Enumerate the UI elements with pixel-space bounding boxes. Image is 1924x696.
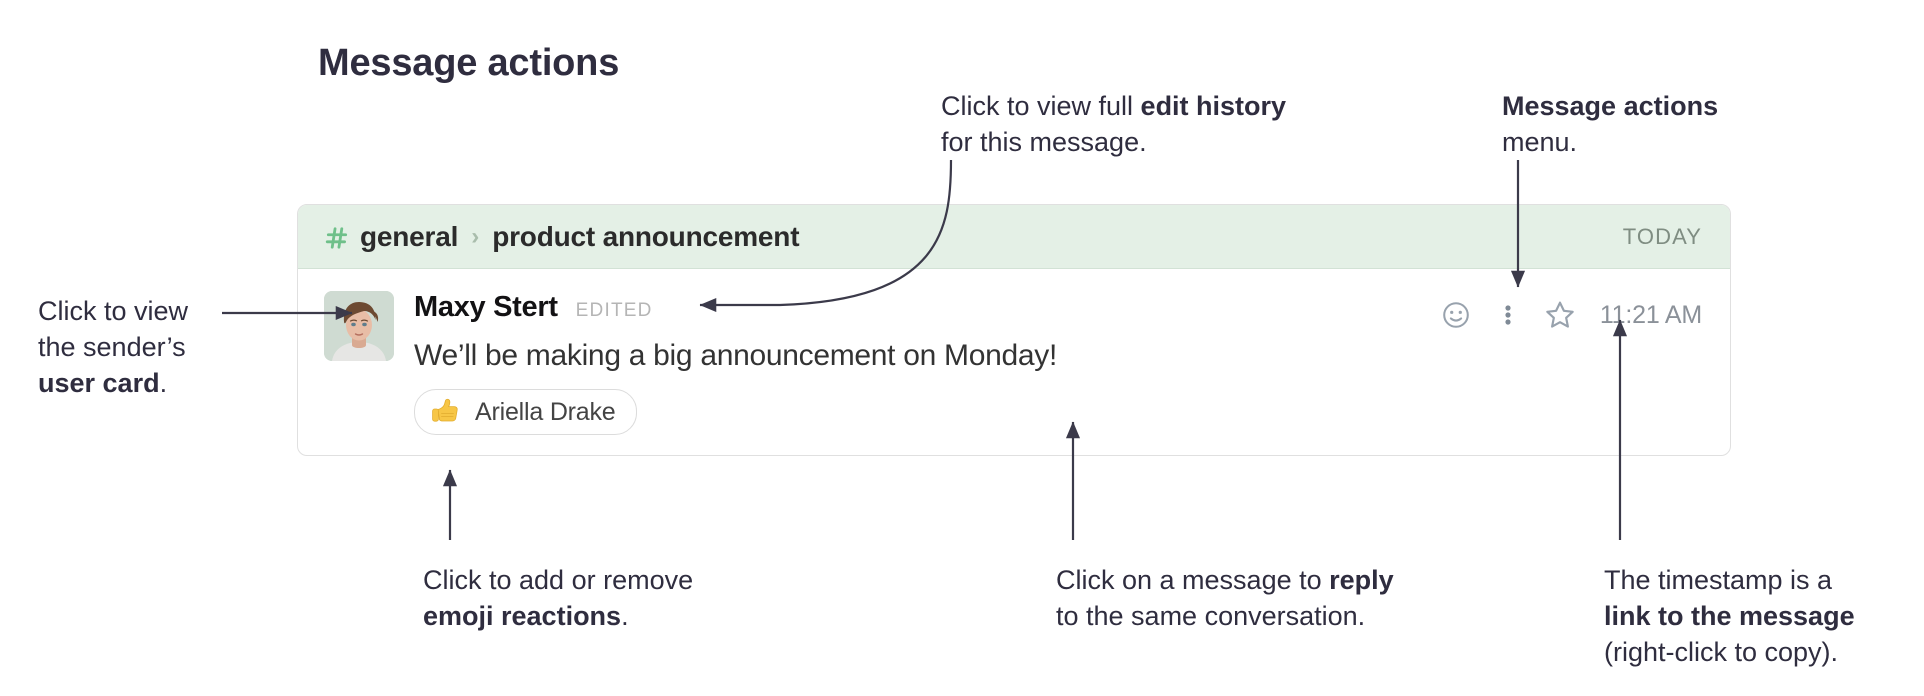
annotation-line: Click to view [38,293,188,329]
annotation-line: Click to view full edit history [941,88,1286,124]
annotation-user-card: Click to viewthe sender’suser card. [38,293,188,401]
annotation-emphasis: Message actions [1502,91,1718,121]
message-body[interactable]: We’ll be making a big announcement on Mo… [414,339,1702,373]
annotation-timestamp: The timestamp is alink to the message(ri… [1604,562,1855,670]
annotation-text: Click to add or remove [423,565,693,595]
annotation-text: Click on a message to [1056,565,1329,595]
star-icon[interactable] [1534,295,1586,335]
vertical-dots-icon[interactable] [1482,295,1534,335]
annotation-text: The timestamp is a [1604,565,1832,595]
reaction-label: Ariella Drake [475,398,616,427]
sender-name[interactable]: Maxy Stert [414,291,558,324]
page-title: Message actions [318,42,619,85]
annotation-line: (right-click to copy). [1604,634,1855,670]
annotation-emphasis: edit history [1141,91,1287,121]
annotation-actions-menu: Message actionsmenu. [1502,88,1718,160]
reaction-row: Ariella Drake [414,389,1702,435]
annotation-line: Message actions [1502,88,1718,124]
reaction-pill[interactable]: Ariella Drake [414,389,637,435]
day-label: TODAY [1623,224,1702,250]
annotation-line: Click on a message to reply [1056,562,1394,598]
annotation-emoji-reactions: Click to add or removeemoji reactions. [423,562,693,634]
edited-flag[interactable]: EDITED [576,300,653,322]
message-timestamp[interactable]: 11:21 AM [1600,301,1702,330]
annotation-emphasis: link to the message [1604,601,1855,631]
annotation-line: user card. [38,365,188,401]
recipient-bar: general › product announcement TODAY [298,205,1730,269]
screenshot-root: Message actions Click to view full edit … [0,0,1924,696]
annotation-line: for this message. [941,124,1286,160]
avatar[interactable] [324,291,394,361]
annotation-line: the sender’s [38,329,188,365]
annotation-line: Click to add or remove [423,562,693,598]
annotation-edit-history: Click to view full edit historyfor this … [941,88,1286,160]
message-row[interactable]: Maxy Stert EDITED We’ll be making a big … [298,269,1730,435]
annotation-text: Click to view full [941,91,1141,121]
annotation-text: the sender’s [38,332,186,362]
annotation-emphasis: reply [1329,565,1394,595]
emoji-reaction-icon[interactable] [1430,295,1482,335]
annotation-text: for this message. [941,127,1147,157]
annotation-text: . [621,601,629,631]
annotation-emphasis: user card [38,368,160,398]
annotation-text: Click to view [38,296,188,326]
hash-icon[interactable] [324,225,350,251]
annotation-line: menu. [1502,124,1718,160]
annotation-text: (right-click to copy). [1604,637,1838,667]
annotation-reply: Click on a message to replyto the same c… [1056,562,1394,634]
annotation-line: emoji reactions. [423,598,693,634]
annotation-line: The timestamp is a [1604,562,1855,598]
annotation-text: . [160,368,168,398]
annotation-line: link to the message [1604,598,1855,634]
breadcrumb-separator-icon: › [471,223,479,251]
annotation-text: to the same conversation. [1056,601,1365,631]
message-controls: 11:21 AM [1430,295,1702,335]
thumbs-up-emoji [429,395,463,429]
topic-name[interactable]: product announcement [492,221,799,253]
annotation-emphasis: emoji reactions [423,601,621,631]
annotation-line: to the same conversation. [1056,598,1394,634]
message-card[interactable]: general › product announcement TODAY [297,204,1731,456]
annotation-text: menu. [1502,127,1577,157]
stream-name[interactable]: general [360,221,458,253]
